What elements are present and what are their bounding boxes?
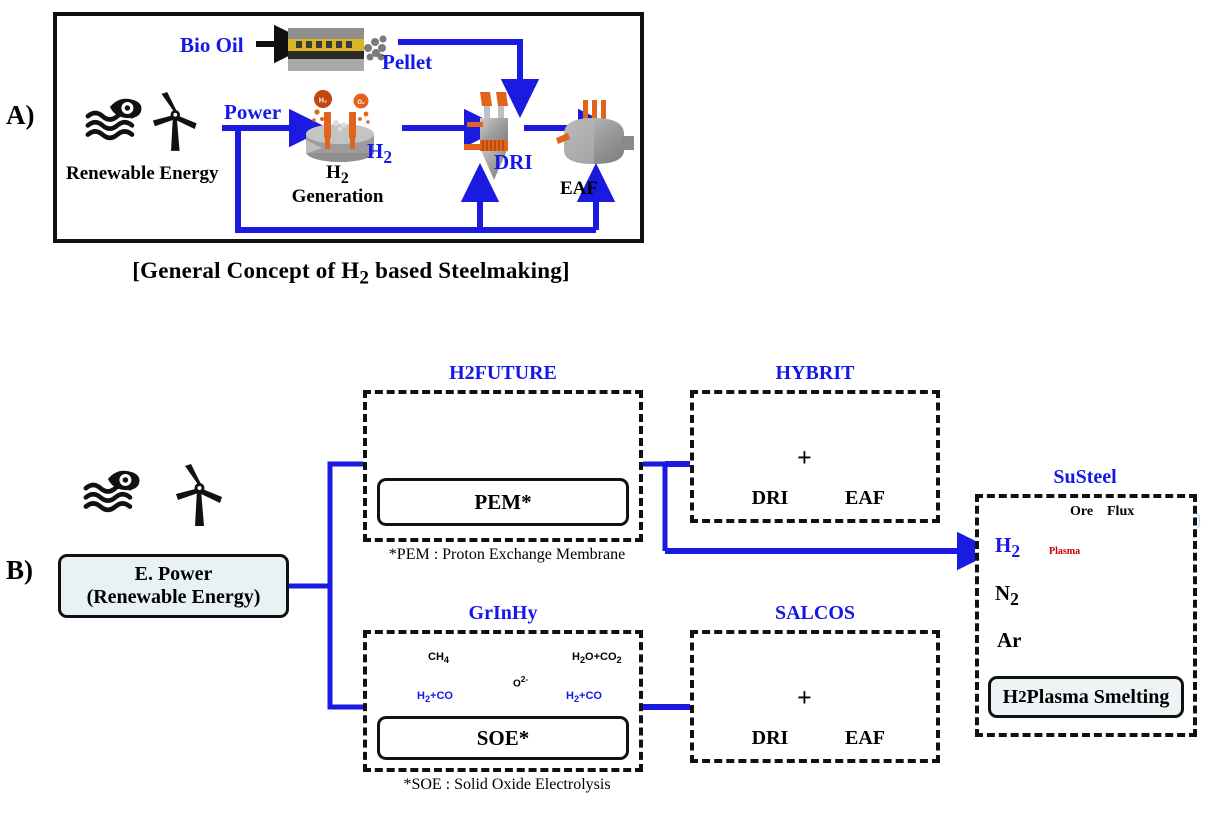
hybrit-box[interactable]: [690, 390, 940, 523]
panel-a-frame: [53, 12, 644, 243]
ion-sup: 2-: [521, 674, 528, 684]
h2-gen-h: H: [326, 162, 341, 183]
h2-generation-label: H2 Generation: [270, 163, 405, 207]
ro-pre: H: [566, 690, 574, 702]
gas-label-h2: H2: [995, 533, 1020, 562]
salcos-plus: +: [797, 683, 812, 713]
e-power-line2: (Renewable Energy): [87, 586, 261, 609]
eaf-label-a: EAF: [560, 178, 598, 200]
soe-h2o-co2-label: H2O+CO2: [572, 651, 622, 665]
renewable-energy-label: Renewable Energy: [66, 163, 219, 185]
hybrit-eaf-label: EAF: [832, 487, 898, 510]
pem-footnote: *PEM : Proton Exchange Membrane: [352, 546, 662, 564]
ch4-pre: CH: [428, 651, 444, 663]
soe-box[interactable]: SOE*: [377, 716, 629, 760]
pellet-label: Pellet: [382, 50, 432, 75]
h2o-p2: O+CO: [585, 651, 616, 663]
bio-oil-label: Bio Oil: [180, 33, 244, 58]
e-power-box[interactable]: E. Power (Renewable Energy): [58, 554, 289, 618]
caption-post: based Steelmaking]: [369, 258, 570, 283]
soe-ch4-label: CH4: [428, 651, 449, 665]
gas-label-n2: N2: [995, 581, 1019, 610]
panel-b-label: B): [6, 555, 33, 586]
plasma-pre: H: [1003, 686, 1019, 709]
h2-gen-line2: Generation: [270, 187, 405, 208]
ro-post: +CO: [579, 690, 602, 702]
h2o-s2: 2: [617, 655, 622, 665]
lo-post: +CO: [430, 690, 453, 702]
soe-right-out-label: H2+CO: [566, 690, 602, 704]
h2future-title: H2FUTURE: [363, 362, 643, 385]
power-to-grinhy: [330, 586, 363, 707]
flux-hopper-label: Flux: [1107, 504, 1134, 520]
hybrit-title: HYBRIT: [690, 362, 940, 385]
salcos-box[interactable]: [690, 630, 940, 763]
gas-n2-pre: N: [995, 581, 1010, 605]
hybrit-plus: +: [797, 443, 812, 473]
wind-turbine-icon: [176, 464, 222, 526]
susteel-title: SuSteel: [975, 466, 1195, 489]
gas-h2-sub: 2: [1011, 541, 1020, 561]
h2o-p1: H: [572, 651, 580, 663]
soe-footnote: *SOE : Solid Oxide Electrolysis: [352, 776, 662, 794]
panel-a-label: A): [6, 100, 35, 131]
ch4-sub: 4: [444, 655, 449, 665]
power-to-h2future: [330, 464, 363, 586]
power-label: Power: [224, 100, 281, 125]
plasma-sub: 2: [1018, 687, 1026, 707]
gas-n2-sub: 2: [1010, 589, 1019, 609]
ion-pre: O: [513, 678, 521, 689]
wave-icon: [86, 471, 140, 510]
ore-hopper-label: Ore: [1070, 504, 1093, 520]
soe-ion-label: O2-: [513, 674, 528, 689]
gas-label-ar: Ar: [997, 628, 1022, 653]
hybrit-dri-label: DRI: [740, 487, 800, 510]
pem-box[interactable]: PEM*: [377, 478, 629, 526]
plasma-label: Plasma: [1049, 546, 1080, 557]
plasma-post: Plasma Smelting: [1027, 686, 1170, 709]
e-power-line1: E. Power: [135, 563, 213, 586]
caption-sub: 2: [359, 268, 369, 289]
salcos-eaf-label: EAF: [832, 727, 898, 750]
grinhy-title: GrInHy: [363, 602, 643, 625]
soe-left-out-label: H2+CO: [417, 690, 453, 704]
lo-pre: H: [417, 690, 425, 702]
h2-gen-sub: 2: [341, 170, 349, 187]
h2future-out-trunk: [643, 464, 665, 551]
salcos-dri-label: DRI: [740, 727, 800, 750]
gas-h2-pre: H: [995, 533, 1011, 557]
panel-a-caption: [General Concept of H2 based Steelmaking…: [56, 258, 646, 290]
salcos-title: SALCOS: [690, 602, 940, 625]
h2-stream-text: H: [367, 139, 383, 163]
caption-pre: [General Concept of H: [132, 258, 359, 283]
h2-plasma-smelting-box[interactable]: H2 Plasma Smelting: [988, 676, 1184, 718]
dri-flow-label: DRI: [494, 150, 533, 175]
